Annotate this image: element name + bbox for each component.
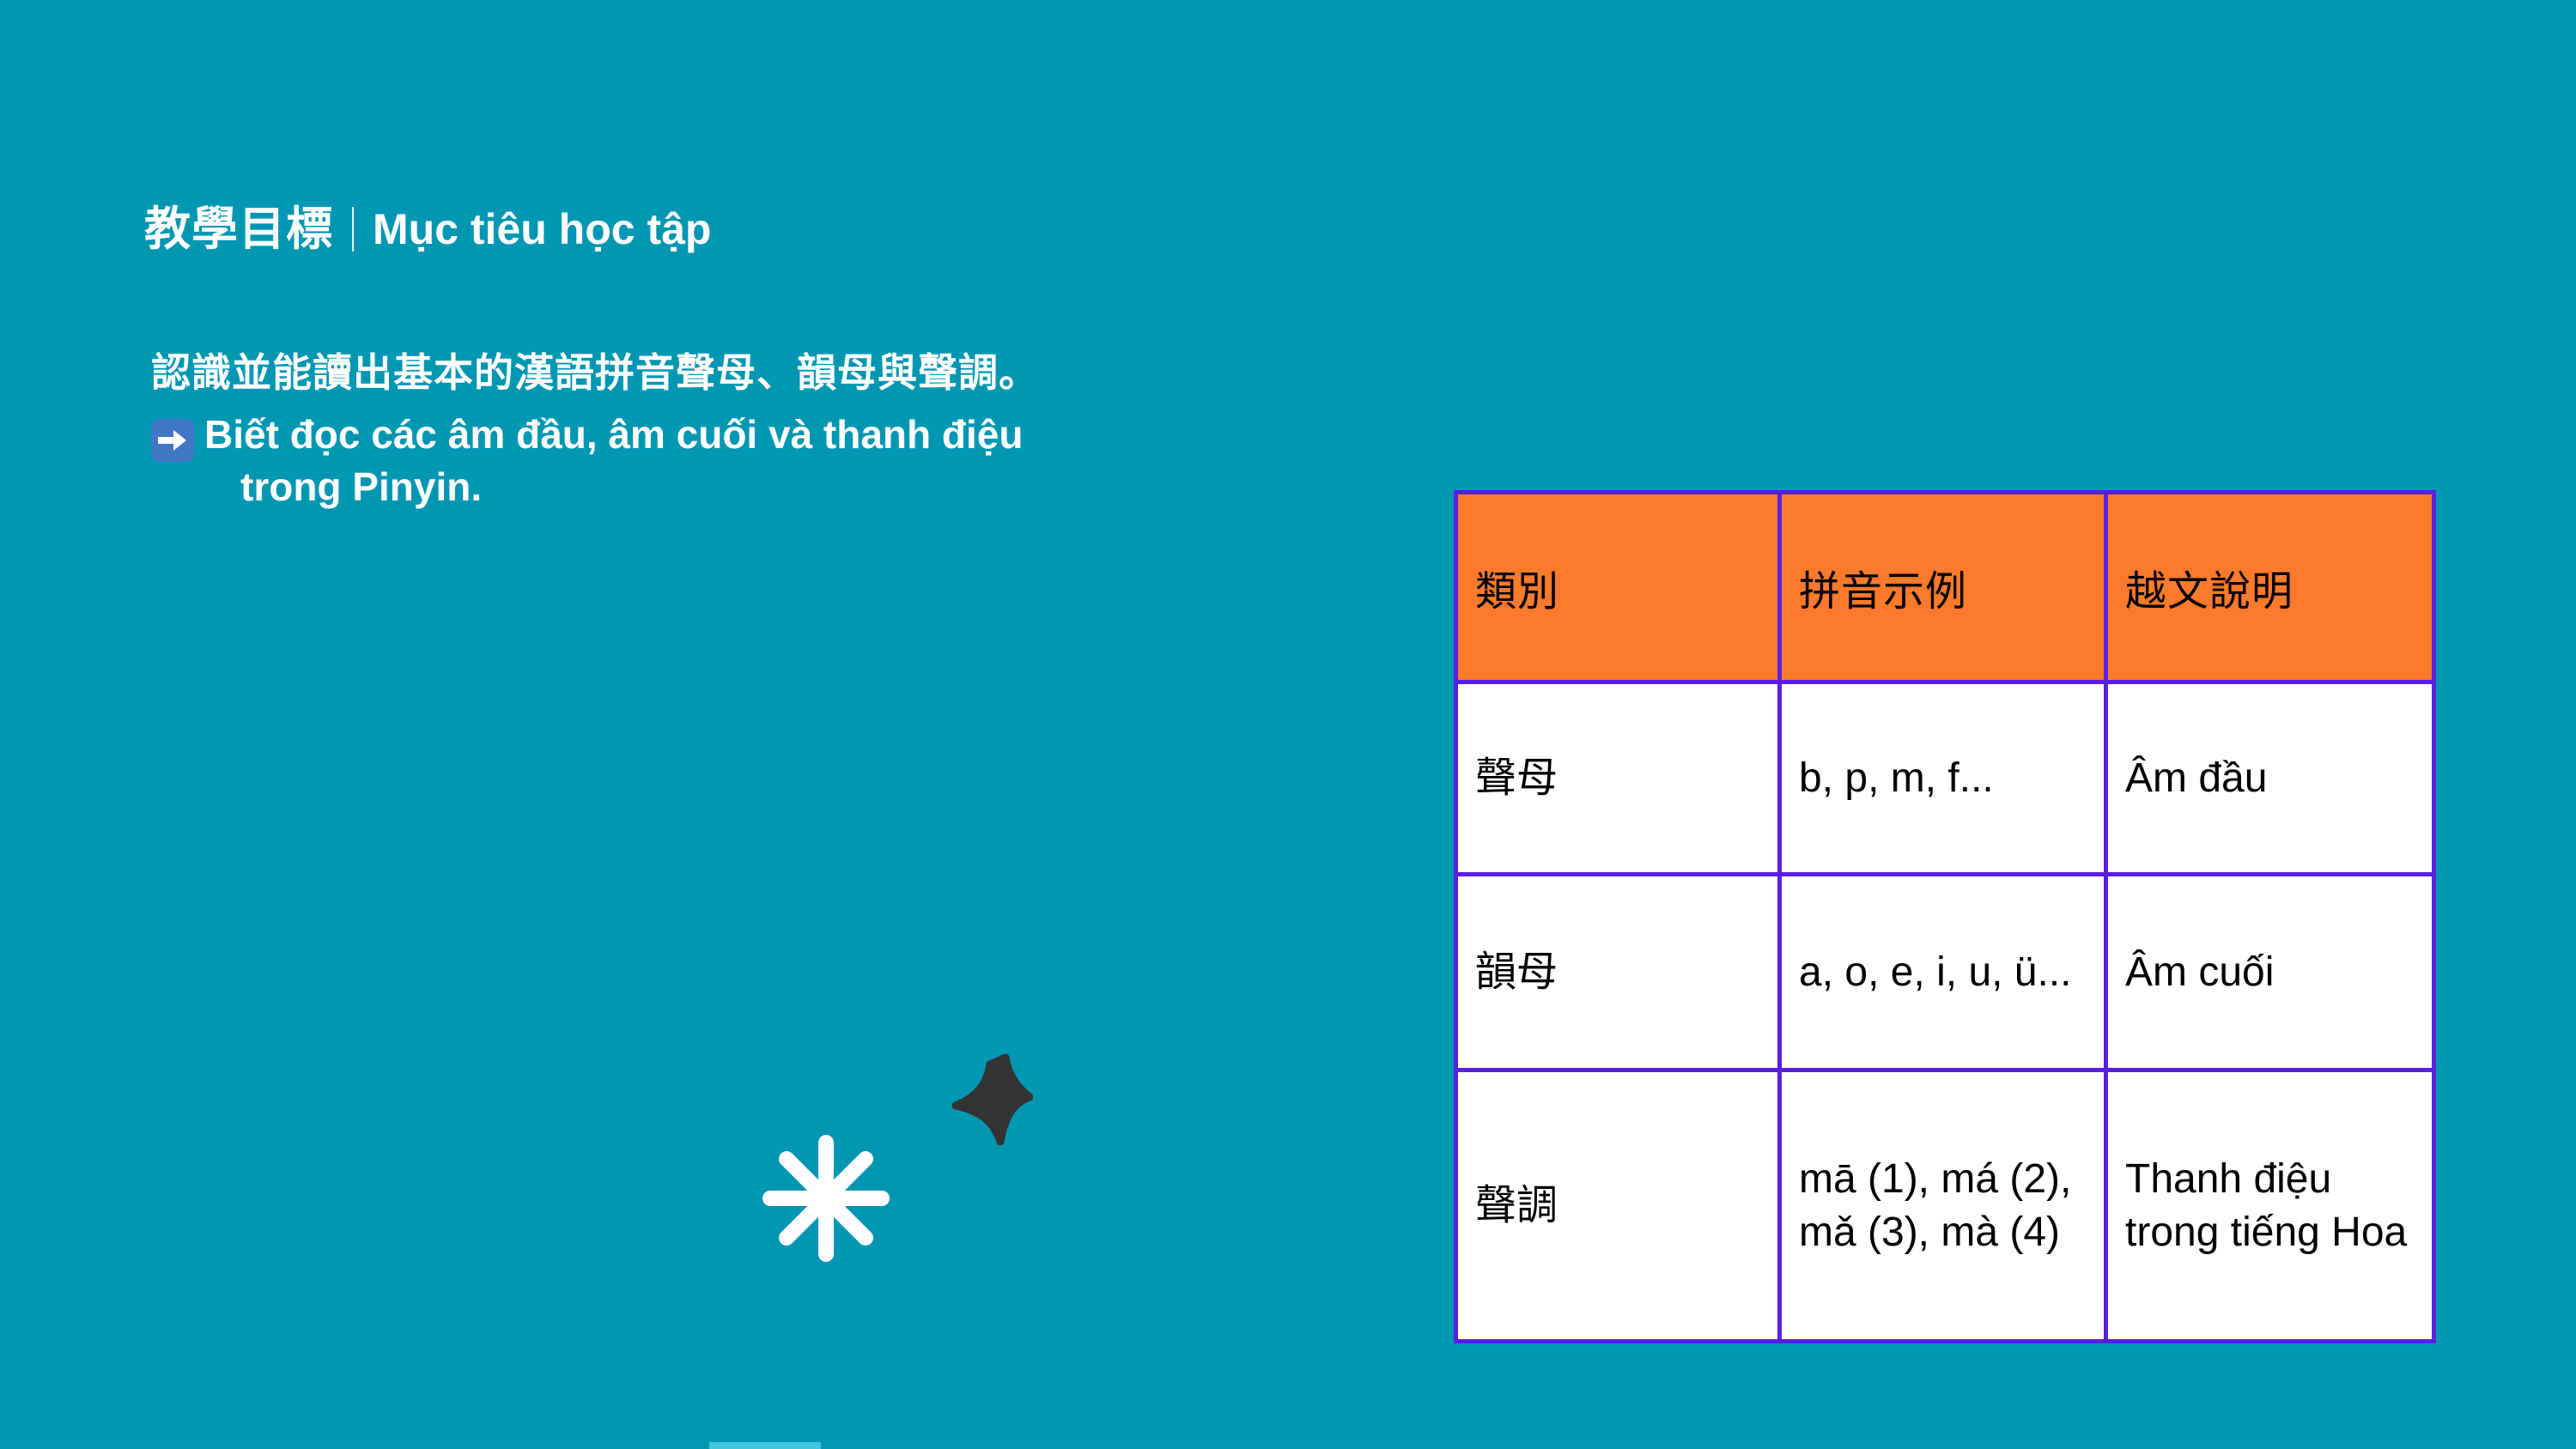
- objective-chinese-line: 認識並能讀出基本的漢語拼音聲母、韻母與聲調。: [151, 348, 1370, 398]
- cell-vietnamese: Âm đầu: [2106, 682, 2434, 875]
- table-row: 聲母 b, p, m, f... Âm đầu: [1456, 682, 2434, 875]
- heading-vietnamese: Mục tiêu học tập: [373, 208, 711, 251]
- objective-text-block: 認識並能讀出基本的漢語拼音聲母、韻母與聲調。 Biết đọc các âm đ…: [151, 348, 1370, 513]
- cell-pinyin: mā (1), má (2), mǎ (3), mà (4): [1780, 1070, 2106, 1342]
- objective-vietnamese-text: Biết đọc các âm đầu, âm cuối và thanh đi…: [204, 409, 1023, 513]
- cell-category: 聲母: [1456, 682, 1780, 875]
- column-header-pinyin: 拼音示例: [1780, 493, 2106, 682]
- column-header-category: 類別: [1456, 493, 1780, 682]
- table-header-row: 類別 拼音示例 越文說明: [1456, 493, 2434, 682]
- right-arrow-icon: [151, 419, 194, 462]
- objective-vietnamese-line-1: Biết đọc các âm đầu, âm cuối và thanh đi…: [204, 412, 1023, 457]
- bottom-progress-fill: [709, 1442, 821, 1449]
- cell-pinyin: b, p, m, f...: [1780, 682, 2106, 875]
- pinyin-reference-table: 類別 拼音示例 越文說明 聲母 b, p, m, f... Âm đầu 韻母 …: [1454, 490, 2432, 1322]
- slide-heading: 教學目標 Mục tiêu học tập: [144, 206, 711, 252]
- cell-category: 聲調: [1456, 1070, 1780, 1342]
- heading-chinese: 教學目標: [144, 206, 333, 252]
- bottom-progress-track: [0, 1442, 2576, 1449]
- asterisk-sparkle-icon: [757, 1130, 895, 1267]
- objective-vietnamese-line-2: trong Pinyin.: [204, 461, 1023, 513]
- heading-separator-rule: [352, 207, 354, 252]
- cell-category: 韻母: [1456, 875, 1780, 1070]
- cell-vietnamese: Âm cuối: [2106, 875, 2434, 1070]
- column-header-vietnamese: 越文說明: [2106, 493, 2434, 682]
- slide-canvas: 教學目標 Mục tiêu học tập 認識並能讀出基本的漢語拼音聲母、韻母…: [0, 0, 2576, 1449]
- cell-pinyin: a, o, e, i, u, ü...: [1780, 875, 2106, 1070]
- cell-vietnamese: Thanh điệu trong tiếng Hoa: [2106, 1070, 2434, 1342]
- four-point-star-icon: [930, 1052, 1033, 1155]
- objective-bullet-row: Biết đọc các âm đầu, âm cuối và thanh đi…: [151, 409, 1370, 513]
- table-row: 聲調 mā (1), má (2), mǎ (3), mà (4) Thanh …: [1456, 1070, 2434, 1342]
- table-row: 韻母 a, o, e, i, u, ü... Âm cuối: [1456, 875, 2434, 1070]
